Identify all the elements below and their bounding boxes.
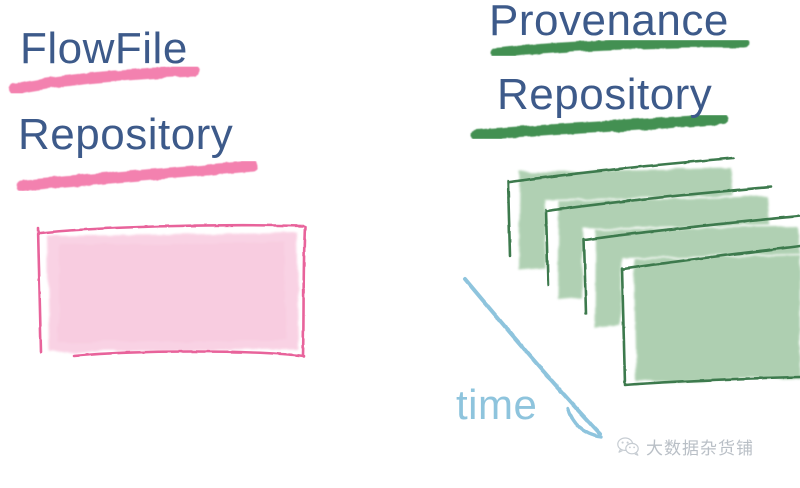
pink-underline-repository xyxy=(22,166,253,186)
flowfile-title-line-1: FlowFile xyxy=(20,24,188,74)
wechat-icon xyxy=(617,437,639,456)
watermark-text: 大数据杂货铺 xyxy=(646,434,754,459)
watermark: 大数据杂货铺 xyxy=(617,434,754,459)
provenance-title-line-1: Provenance xyxy=(489,0,729,46)
green-underline-repository xyxy=(476,119,722,135)
time-arrow-label: time xyxy=(456,381,537,429)
flowfile-title-line-2: Repository xyxy=(18,110,233,160)
provenance-title-line-2: Repository xyxy=(497,70,712,120)
diagram-canvas: FlowFile Repository Provenance Repositor… xyxy=(0,0,800,488)
provenance-box-4 xyxy=(622,246,800,385)
flowfile-repository-box xyxy=(38,225,305,356)
